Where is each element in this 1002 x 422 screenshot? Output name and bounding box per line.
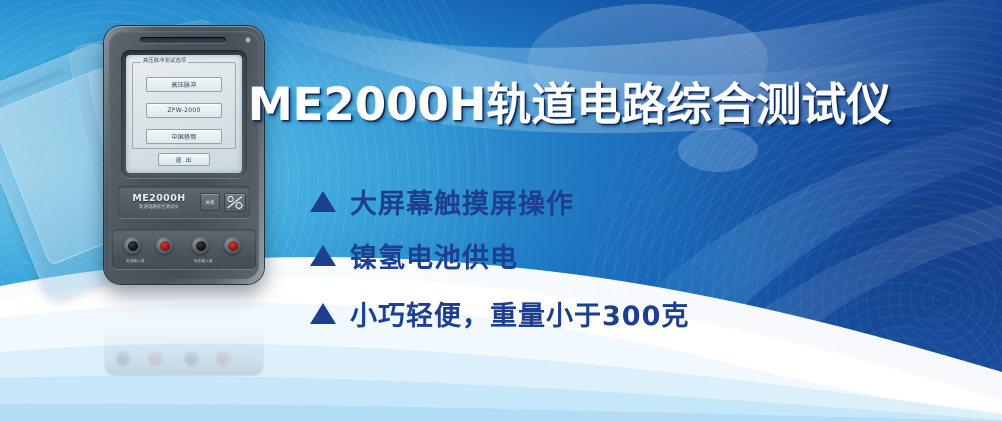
device-nameplate: ME2000H 轨道电路综合测试仪 关机 bbox=[118, 186, 250, 218]
page-title: ME2000H轨道电路综合测试仪 bbox=[248, 82, 891, 127]
device-power-off-button[interactable]: 关机 bbox=[200, 193, 220, 211]
triangle-up-icon bbox=[310, 303, 336, 324]
screen-option-group: 高压脉冲测试选项 高压脉冲 ZPW-2000 中国移频 bbox=[132, 62, 236, 149]
device-port-panel: 电流输入端 电压输入端 bbox=[112, 229, 256, 269]
brightness-settings-icon[interactable] bbox=[224, 193, 246, 212]
screen-button-high-voltage-pulse[interactable]: 高压脉冲 bbox=[146, 77, 222, 92]
feature-label-2: 镍氢电池供电 bbox=[350, 236, 518, 275]
speaker-slot-icon bbox=[140, 37, 226, 43]
feature-item-3: 小巧轻便，重量小于300克 bbox=[310, 294, 689, 333]
reflection-jack bbox=[116, 351, 131, 366]
feature-label-3: 小巧轻便，重量小于300克 bbox=[350, 294, 689, 333]
screen-button-exit[interactable]: 退 出 bbox=[158, 153, 210, 166]
reflection-jack bbox=[148, 351, 163, 366]
screen-group-title: 高压脉冲测试选项 bbox=[141, 58, 188, 64]
feature-label-1: 大屏幕触摸屏操作 bbox=[350, 182, 574, 221]
feature-item-1: 大屏幕触摸屏操作 bbox=[310, 182, 574, 221]
current-input-label: 电流输入端 bbox=[126, 259, 144, 264]
triangle-up-icon bbox=[310, 245, 336, 266]
device-model-label: ME2000H bbox=[122, 194, 196, 204]
voltage-input-label: 电压输入端 bbox=[194, 259, 212, 264]
device-subtitle-label: 轨道电路综合测试仪 bbox=[122, 206, 196, 210]
current-input-negative-jack[interactable] bbox=[124, 237, 141, 254]
device-photo-group: 高压脉冲测试选项 高压脉冲 ZPW-2000 中国移频 退 出 ME2000H … bbox=[52, 14, 312, 324]
feature-item-2: 镍氢电池供电 bbox=[310, 236, 518, 275]
screen-button-china-frequency-shift[interactable]: 中国移频 bbox=[146, 129, 222, 144]
voltage-input-negative-jack[interactable] bbox=[192, 237, 209, 254]
device-screen[interactable]: 高压脉冲测试选项 高压脉冲 ZPW-2000 中国移频 退 出 bbox=[126, 55, 242, 173]
voltage-input-positive-jack[interactable] bbox=[224, 237, 241, 254]
device-screen-bezel: 高压脉冲测试选项 高压脉冲 ZPW-2000 中国移频 退 出 bbox=[121, 50, 247, 178]
reflection-jack bbox=[184, 351, 199, 366]
nameplate-text: ME2000H 轨道电路综合测试仪 bbox=[122, 194, 196, 210]
led-indicator-icon bbox=[246, 38, 250, 42]
screen-button-zpw-2000[interactable]: ZPW-2000 bbox=[146, 103, 222, 118]
device-reflection bbox=[104, 286, 264, 376]
current-input-positive-jack[interactable] bbox=[156, 237, 173, 254]
me2000h-device: 高压脉冲测试选项 高压脉冲 ZPW-2000 中国移频 退 出 ME2000H … bbox=[104, 26, 264, 284]
product-banner: 高压脉冲测试选项 高压脉冲 ZPW-2000 中国移频 退 出 ME2000H … bbox=[0, 0, 1002, 422]
reflection-jack bbox=[216, 351, 231, 366]
triangle-up-icon bbox=[310, 191, 336, 212]
